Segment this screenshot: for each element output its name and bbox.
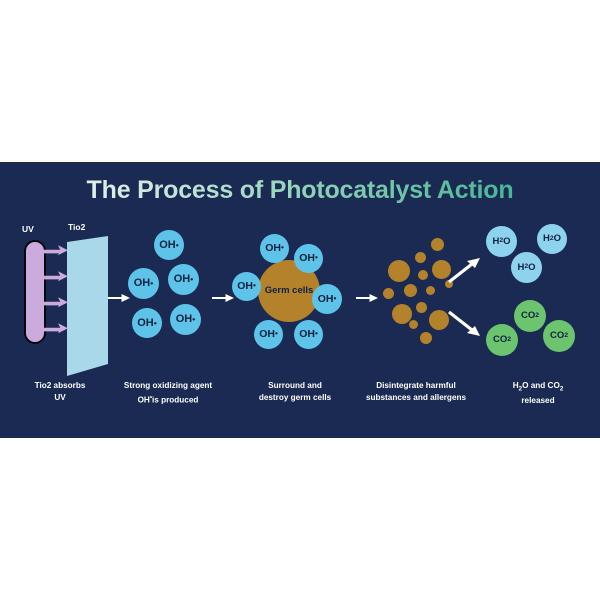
germ-cells-label: Germ cells bbox=[265, 286, 314, 296]
stage-oh-produced: OH• OH• OH• OH• OH• bbox=[128, 224, 220, 374]
oh-bubble-label: OH bbox=[299, 329, 315, 340]
particle bbox=[404, 284, 417, 297]
oh-bubble: OH• bbox=[294, 244, 323, 273]
oh-bubble: OH• bbox=[312, 284, 342, 314]
h2o-bubble: H2O bbox=[537, 224, 567, 254]
oh-radical-dot: • bbox=[150, 279, 153, 288]
oh-bubble-label: OH bbox=[176, 314, 193, 325]
co2-bubble-label: CO bbox=[550, 331, 564, 341]
oh-bubble: OH• bbox=[128, 268, 159, 299]
oh-bubble-label: OH bbox=[259, 329, 275, 340]
uv-ray-icon bbox=[42, 244, 70, 258]
particle bbox=[431, 238, 444, 251]
infographic-band: The Process of Photocatalyst Action UV T… bbox=[0, 162, 600, 438]
caption-mid: O and CO bbox=[522, 381, 560, 390]
oh-radical-dot: • bbox=[275, 330, 278, 338]
co2-subscript: 2 bbox=[507, 337, 511, 344]
oh-bubble: OH• bbox=[170, 304, 201, 335]
oh-bubble-label: OH bbox=[237, 281, 253, 292]
uv-ray-icon bbox=[42, 270, 70, 284]
stage-surround-germ-cells: Germ cells OH• OH• OH• OH• OH• OH• bbox=[232, 224, 352, 374]
caption-line: OH•is produced bbox=[104, 392, 232, 406]
oh-bubble-label: OH bbox=[265, 243, 281, 254]
particle bbox=[383, 288, 394, 299]
oh-radical-dot: • bbox=[190, 275, 193, 284]
oh-bubble: OH• bbox=[168, 264, 199, 295]
stage-tio2-absorbs-uv: UV Tio2 bbox=[8, 224, 118, 374]
caption-oh: OH bbox=[138, 395, 150, 404]
stage-disintegrate-substances bbox=[382, 224, 474, 374]
caption-disintegrate: Disintegrate harmful substances and alle… bbox=[352, 380, 480, 403]
split-arrow-up-icon bbox=[448, 258, 482, 284]
caption-line: UV bbox=[8, 392, 112, 404]
oh-bubble: OH• bbox=[254, 320, 283, 349]
oh-bubble: OH• bbox=[232, 272, 261, 301]
oh-bubble-label: OH bbox=[159, 240, 176, 251]
tio2-label: Tio2 bbox=[68, 222, 85, 232]
oh-radical-dot: • bbox=[315, 254, 318, 262]
h2o-bubble-tail: O bbox=[503, 237, 510, 247]
oh-radical-dot: • bbox=[176, 241, 179, 250]
uv-label: UV bbox=[22, 224, 34, 234]
h2o-bubble-label: H bbox=[492, 237, 499, 247]
caption-line: substances and allergens bbox=[352, 392, 480, 404]
caption-line: Tio2 absorbs bbox=[8, 380, 112, 392]
oh-radical-dot: • bbox=[333, 295, 336, 303]
particle bbox=[416, 302, 427, 313]
oh-radical-dot: • bbox=[281, 244, 284, 252]
uv-ray-icon bbox=[42, 296, 70, 310]
caption-line: destroy germ cells bbox=[240, 392, 350, 404]
oh-radical-dot: • bbox=[192, 315, 195, 324]
particle bbox=[409, 320, 418, 329]
oh-bubble-label: OH bbox=[137, 318, 154, 329]
oh-bubble: OH• bbox=[294, 320, 323, 349]
oh-radical-dot: • bbox=[315, 330, 318, 338]
oh-bubble-label: OH bbox=[134, 278, 151, 289]
tio2-panel-icon bbox=[64, 236, 110, 376]
caption-tio2-absorbs-uv: Tio2 absorbs UV bbox=[8, 380, 112, 403]
caption-surround-destroy: Surround and destroy germ cells bbox=[240, 380, 350, 403]
co2-bubble-label: CO bbox=[493, 335, 507, 345]
uv-ray-icon bbox=[42, 322, 70, 336]
particle bbox=[415, 252, 426, 263]
co2-bubble-label: CO bbox=[521, 311, 535, 321]
co2-bubble: CO2 bbox=[543, 320, 575, 352]
particle bbox=[420, 332, 432, 344]
h2o-bubble-label: H bbox=[543, 234, 550, 244]
h2o-bubble-label: H bbox=[517, 263, 524, 273]
particle bbox=[426, 286, 435, 295]
oh-bubble-label: OH bbox=[299, 253, 315, 264]
caption-line: Disintegrate harmful bbox=[352, 380, 480, 392]
oh-bubble-label: OH bbox=[318, 294, 334, 305]
split-arrow-down-icon bbox=[448, 310, 482, 336]
co2-subscript: 2 bbox=[564, 333, 568, 340]
caption-line: H2O and CO2 bbox=[486, 380, 590, 395]
caption-line: Strong oxidizing agent bbox=[104, 380, 232, 392]
co2-bubble: CO2 bbox=[486, 324, 518, 356]
h2o-bubble-tail: O bbox=[528, 263, 535, 273]
particle bbox=[418, 270, 428, 280]
caption-line: Surround and bbox=[240, 380, 350, 392]
caption-oh-tail: is produced bbox=[152, 395, 198, 404]
oh-radical-dot: • bbox=[253, 282, 256, 290]
oh-bubble: OH• bbox=[132, 308, 162, 338]
page-title: The Process of Photocatalyst Action bbox=[0, 176, 600, 205]
oh-bubble: OH• bbox=[154, 230, 184, 260]
oh-radical-dot: • bbox=[154, 319, 157, 328]
h2o-bubble: H2O bbox=[511, 252, 542, 283]
h2o-bubble: H2O bbox=[486, 226, 517, 257]
particle bbox=[388, 260, 410, 282]
caption-oh-produced: Strong oxidizing agent OH•is produced bbox=[104, 380, 232, 406]
infographic-canvas: The Process of Photocatalyst Action UV T… bbox=[0, 0, 600, 600]
h2o-bubble-tail: O bbox=[554, 234, 561, 244]
flow-arrow-icon bbox=[356, 292, 380, 304]
caption-released: H2O and CO2 released bbox=[486, 380, 590, 407]
co2-subscript: 2 bbox=[535, 313, 539, 320]
oh-bubble-label: OH bbox=[174, 274, 191, 285]
stage-h2o-co2-released: H2O H2O H2O CO2 CO2 CO2 bbox=[486, 224, 590, 374]
co2-bubble: CO2 bbox=[514, 300, 546, 332]
caption-co2-sub: 2 bbox=[560, 386, 563, 393]
oh-bubble: OH• bbox=[260, 234, 289, 263]
caption-line: released bbox=[486, 395, 590, 407]
particle bbox=[429, 310, 449, 330]
